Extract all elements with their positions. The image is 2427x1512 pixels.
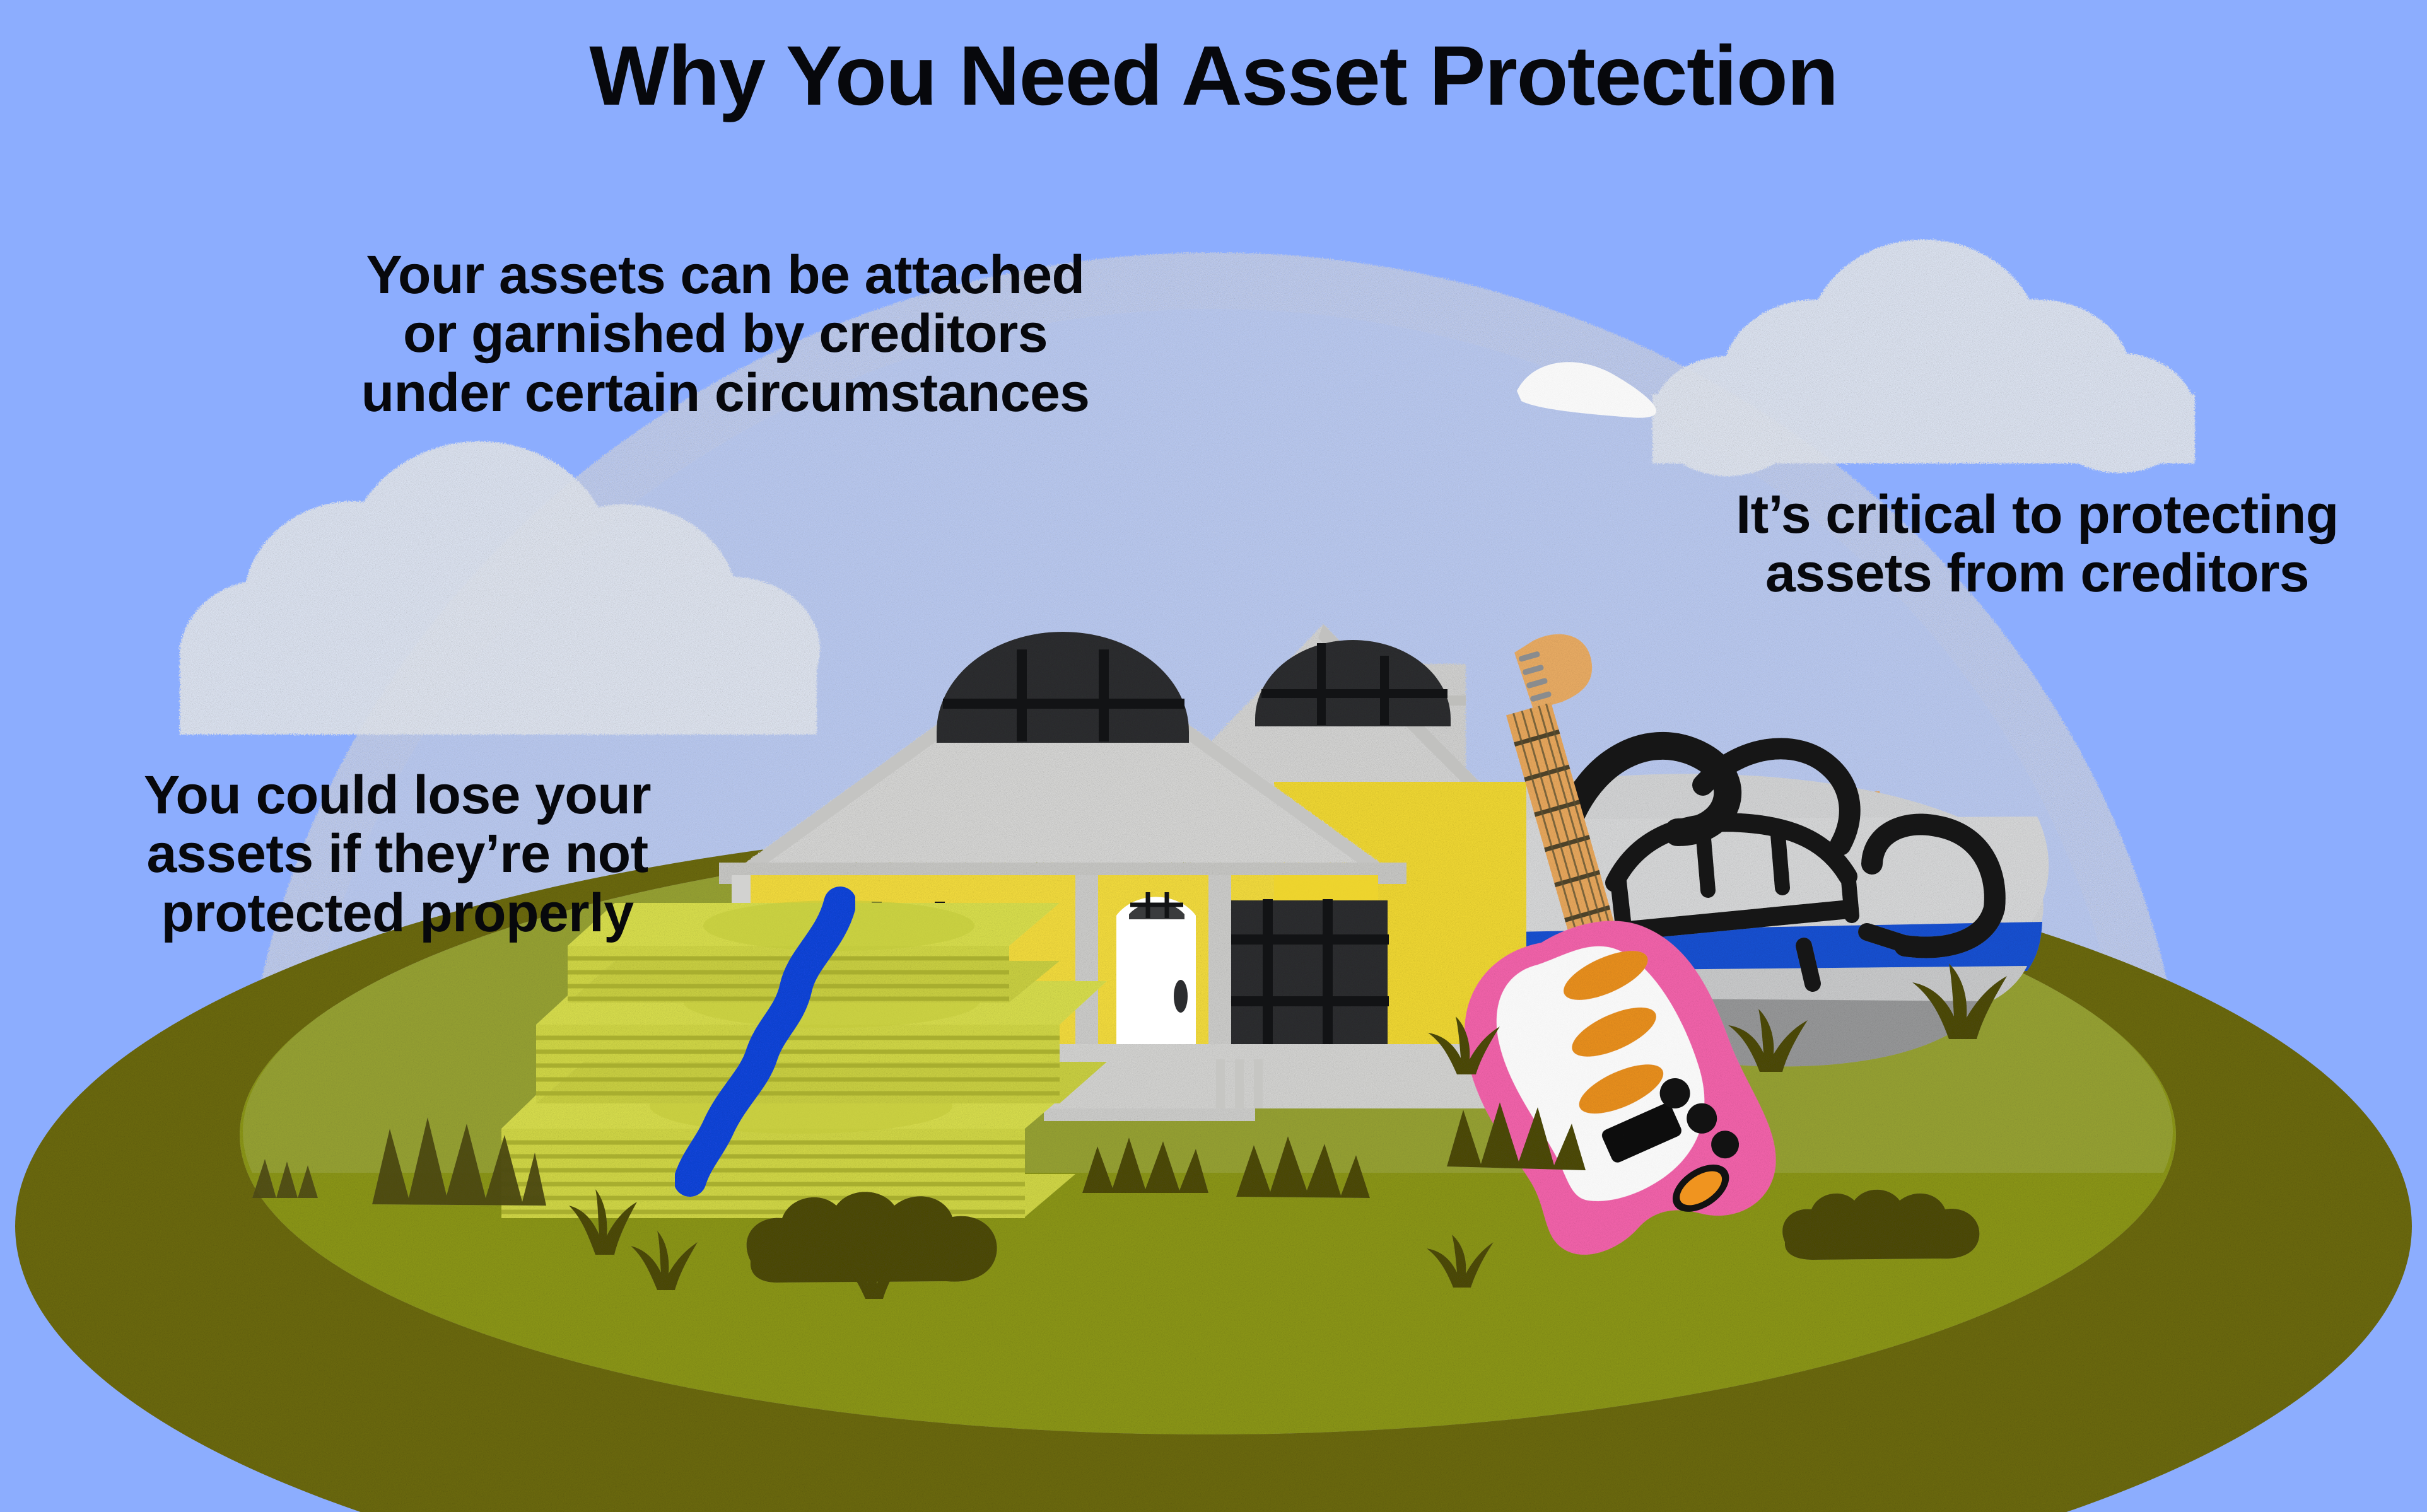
callout-could-lose-assets: You could lose your assets if they’re no… (76, 766, 719, 943)
porch-rail-slats (1216, 1059, 1263, 1108)
window-front-right (1217, 900, 1388, 1045)
door-handle (1174, 980, 1188, 1013)
illustration-canvas (0, 0, 2427, 1512)
scene-svg (0, 0, 2427, 1512)
callout-assets-attached-garnished: Your assets can be attached or garnished… (296, 246, 1154, 422)
page-title: Why You Need Asset Protection (0, 30, 2427, 122)
callout-critical-to-protecting: It’s critical to protecting assets from … (1659, 486, 2416, 603)
